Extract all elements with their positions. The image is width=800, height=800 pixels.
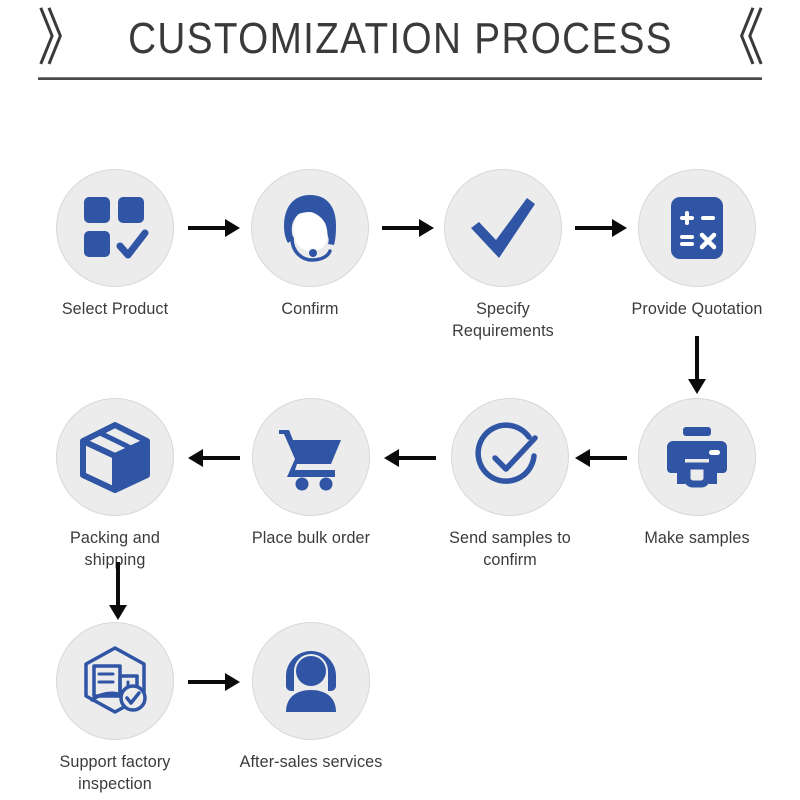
step-packing-and-shipping[interactable]: Packing and shipping — [35, 398, 195, 571]
step-label: Make samples — [621, 527, 773, 549]
calculator-icon — [663, 194, 731, 262]
arrow-8-to-9 — [107, 562, 129, 620]
checkmark-icon — [465, 190, 541, 266]
process-infographic: 》 CUSTOMIZATION PROCESS 《 Select Product — [0, 0, 800, 800]
step-icon-circle — [56, 169, 174, 287]
package-box-icon — [78, 420, 152, 494]
arrow-5-to-6 — [575, 447, 627, 469]
step-label: Send samples to confirm — [434, 527, 586, 571]
arrow-1-to-2 — [188, 217, 240, 239]
step-support-factory-inspection[interactable]: Support factory inspection — [35, 622, 195, 795]
chevron-left-decoration-icon: 《 — [713, 8, 763, 69]
arrow-head — [225, 673, 240, 691]
arrow-head — [109, 605, 127, 620]
arrow-6-to-7 — [384, 447, 436, 469]
step-confirm[interactable]: Confirm — [230, 169, 390, 320]
arrow-shaft — [116, 562, 120, 605]
step-icon-circle — [451, 398, 569, 516]
step-select-product[interactable]: Select Product — [35, 169, 195, 320]
step-label: Specify Requirements — [427, 298, 579, 342]
arrow-head — [688, 379, 706, 394]
title-row: 》 CUSTOMIZATION PROCESS 《 — [0, 8, 800, 70]
header-divider — [38, 77, 762, 80]
page-title: CUSTOMIZATION PROCESS — [129, 17, 674, 61]
arrow-7-to-8 — [188, 447, 240, 469]
arrow-shaft — [188, 680, 225, 684]
step-icon-circle — [638, 398, 756, 516]
arrow-head — [575, 449, 590, 467]
arrow-shaft — [399, 456, 436, 460]
arrow-shaft — [382, 226, 419, 230]
step-icon-circle — [251, 169, 369, 287]
chevron-right-decoration-icon: 》 — [37, 8, 87, 69]
step-icon-circle — [252, 398, 370, 516]
arrow-4-to-5 — [686, 336, 708, 394]
printer-icon — [661, 421, 733, 493]
circle-check-icon — [473, 420, 547, 494]
arrow-shaft — [203, 456, 240, 460]
step-place-bulk-order[interactable]: Place bulk order — [231, 398, 391, 549]
step-icon-circle — [56, 398, 174, 516]
step-label: Provide Quotation — [621, 298, 773, 320]
step-icon-circle — [638, 169, 756, 287]
page-header: 》 CUSTOMIZATION PROCESS 《 — [0, 0, 800, 90]
arrow-9-to-10 — [188, 671, 240, 693]
arrow-2-to-3 — [382, 217, 434, 239]
grid-check-icon — [80, 193, 150, 263]
step-label: Place bulk order — [235, 527, 387, 549]
step-label: Select Product — [39, 298, 191, 320]
step-icon-circle — [444, 169, 562, 287]
step-label: Support factory inspection — [39, 751, 191, 795]
step-send-samples-to-confirm[interactable]: Send samples to confirm — [430, 398, 590, 571]
arrow-shaft — [575, 226, 612, 230]
arrow-shaft — [695, 336, 699, 379]
arrow-3-to-4 — [575, 217, 627, 239]
arrow-head — [612, 219, 627, 237]
step-label: After-sales services — [235, 751, 387, 773]
factory-inspection-icon — [78, 644, 152, 718]
arrow-shaft — [188, 226, 225, 230]
step-after-sales-services[interactable]: After-sales services — [231, 622, 391, 773]
step-label: Confirm — [234, 298, 386, 320]
arrow-head — [225, 219, 240, 237]
headset-person-icon — [274, 644, 348, 718]
arrow-head — [384, 449, 399, 467]
arrow-head — [188, 449, 203, 467]
step-icon-circle — [56, 622, 174, 740]
shopping-cart-icon — [274, 420, 348, 494]
arrow-head — [419, 219, 434, 237]
step-specify-requirements[interactable]: Specify Requirements — [423, 169, 583, 342]
arrow-shaft — [590, 456, 627, 460]
step-make-samples[interactable]: Make samples — [617, 398, 777, 549]
support-agent-icon — [272, 190, 348, 266]
step-icon-circle — [252, 622, 370, 740]
step-provide-quotation[interactable]: Provide Quotation — [617, 169, 777, 320]
